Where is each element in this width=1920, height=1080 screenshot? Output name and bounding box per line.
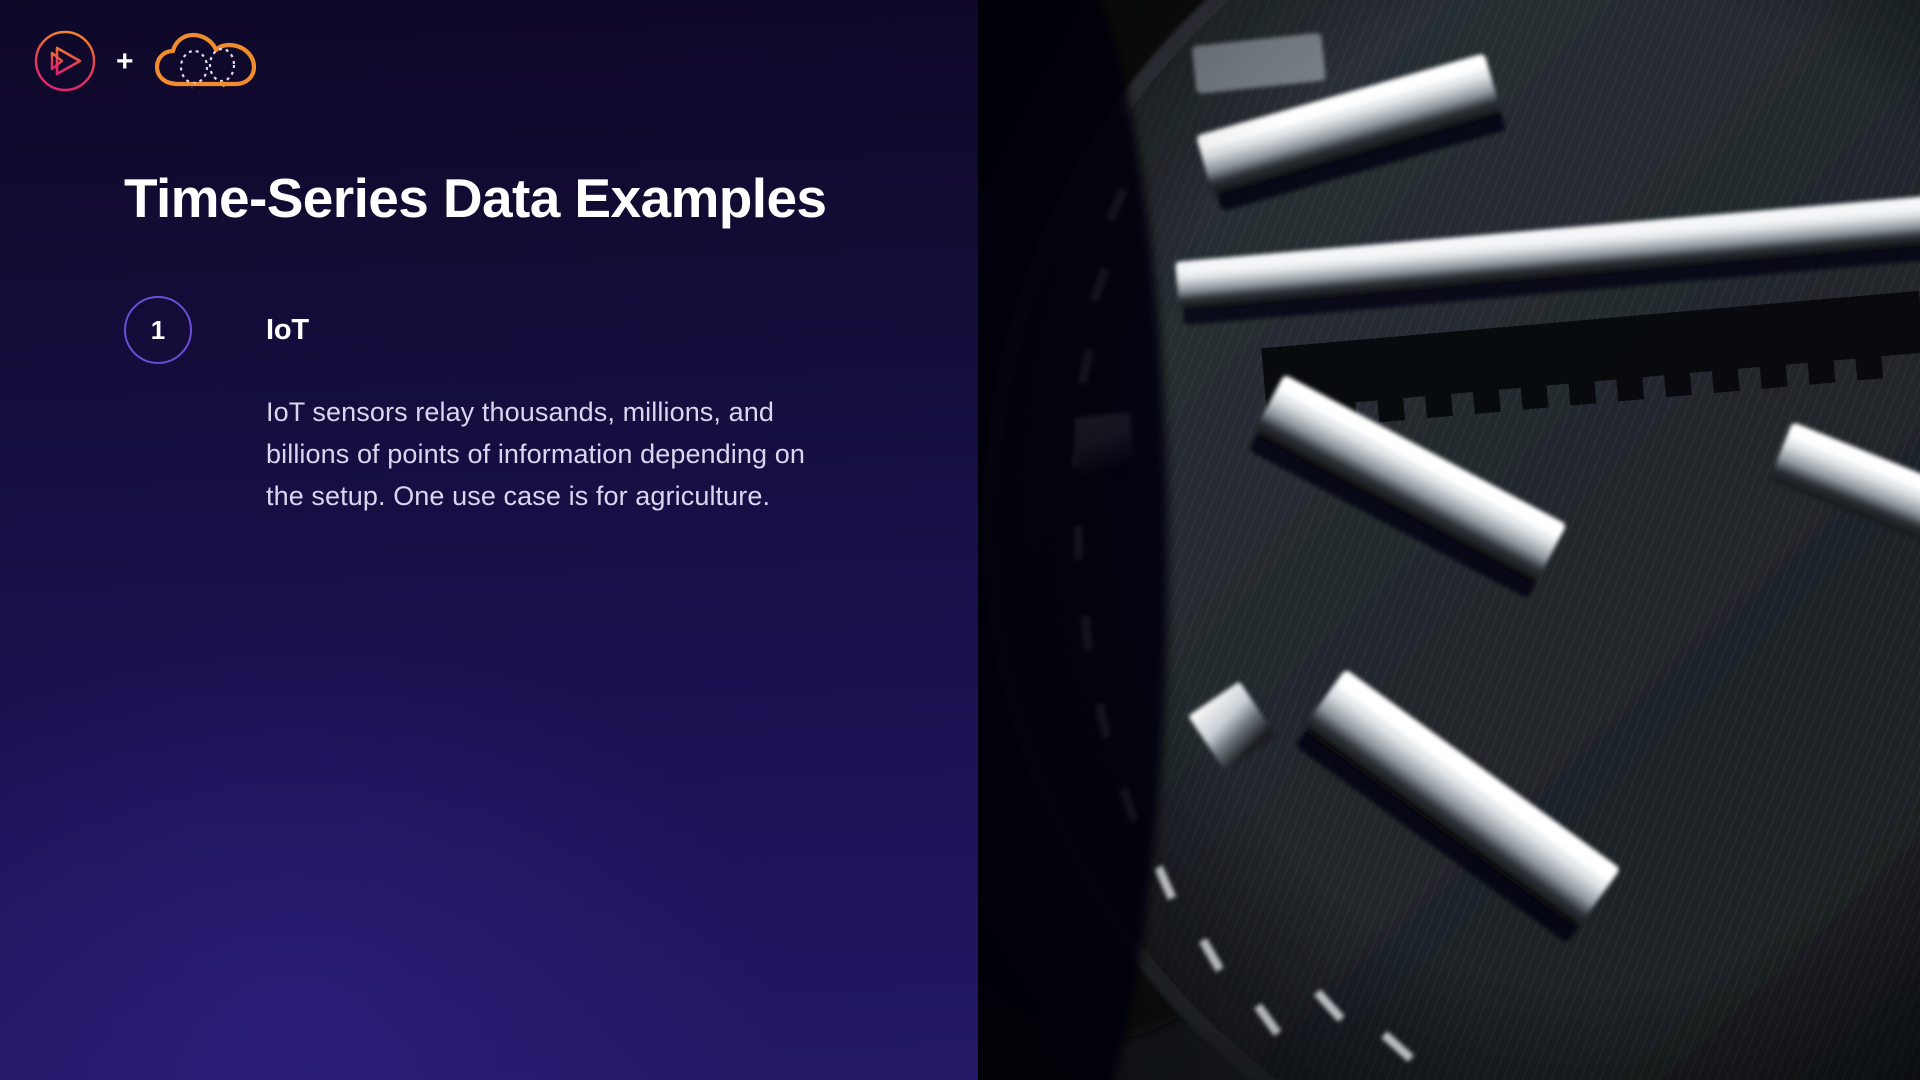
watch-face-closeup-photo [978,0,1920,1080]
list-item-header: 1 IoT [124,296,844,368]
list-item-body: IoT sensors relay thousands, millions, a… [124,368,844,518]
left-content-panel: + Time-Series Data Examples 1 IoT IoT se… [0,0,978,1080]
page-title: Time-Series Data Examples [124,168,924,229]
play-circle-logo [32,28,98,94]
list-item-number: 1 [151,317,165,343]
logo-row: + [32,22,260,100]
list-item-number-badge: 1 [124,296,192,364]
list-item-title: IoT [192,296,309,364]
plus-separator-icon: + [112,47,138,77]
slide-root: + Time-Series Data Examples 1 IoT IoT se… [0,0,1920,1080]
list-item: 1 IoT IoT sensors relay thousands, milli… [124,296,844,518]
watch-photo-graphic [978,0,1920,1080]
cloud-logo [152,30,260,92]
